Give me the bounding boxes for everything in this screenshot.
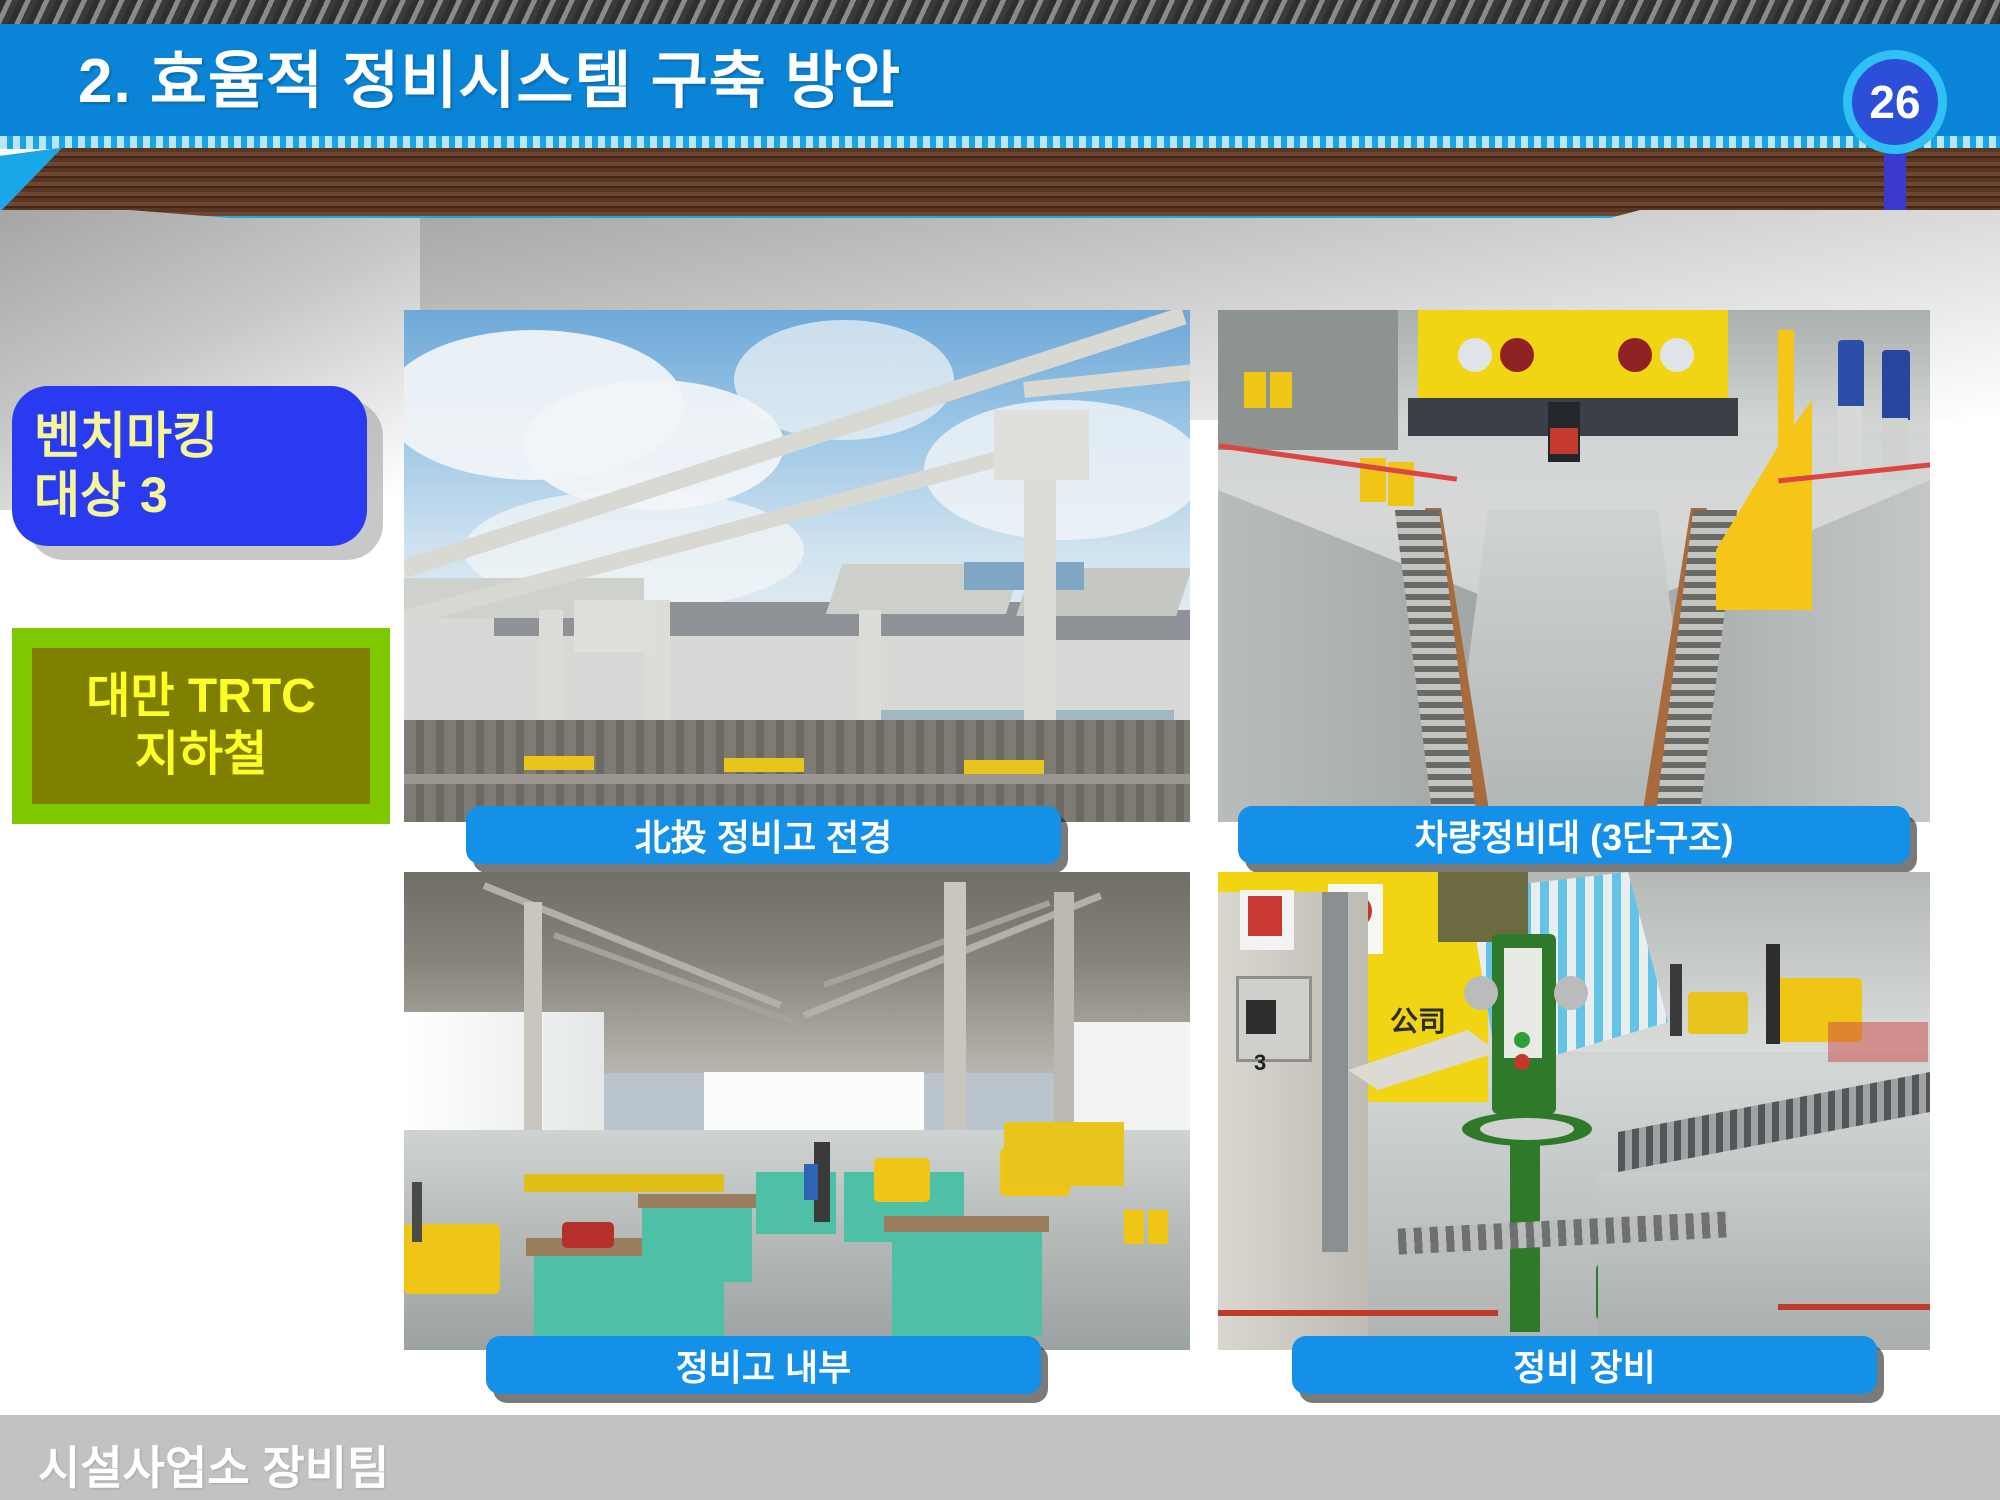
benchmark-box-line1: 벤치마킹 (12, 407, 367, 466)
caption-workshop-interior: 정비고 내부 (486, 1336, 1041, 1394)
top-hatched-strip (0, 0, 2000, 24)
header-dotted-strip (0, 136, 2000, 149)
photo-workshop-interior (404, 872, 1190, 1350)
maintenance-platform-scene (1218, 310, 1930, 822)
brown-decor-band (0, 148, 2000, 218)
photo-depot-exterior (404, 310, 1190, 822)
caption-maintenance-equipment: 정비 장비 (1292, 1336, 1877, 1394)
benchmark-box-line2: 대상 3 (12, 466, 367, 525)
photo-maintenance-equipment: 公司 3 (1218, 872, 1930, 1350)
photo-vehicle-maintenance-platform (1218, 310, 1930, 822)
workshop-interior-scene (404, 872, 1190, 1350)
subject-box-outer: 대만 TRTC 지하철 (12, 628, 390, 824)
caption-depot-exterior: 北投 정비고 전경 (466, 806, 1061, 864)
depot-exterior-scene (404, 310, 1190, 822)
benchmark-target-box: 벤치마킹 대상 3 (12, 386, 367, 546)
caption-vehicle-maintenance-platform: 차량정비대 (3단구조) (1238, 806, 1910, 864)
page-title: 2. 효율적 정비시스템 구축 방안 (78, 30, 901, 120)
page-number-badge: 26 (1843, 50, 1947, 154)
maintenance-equipment-scene: 公司 3 (1218, 872, 1930, 1350)
subject-box-line2: 지하철 (135, 726, 267, 784)
subject-box-inner: 대만 TRTC 지하철 (32, 648, 370, 804)
footer-text: 시설사업소 장비팀 (38, 1432, 389, 1498)
subject-box-line1: 대만 TRTC (86, 668, 316, 726)
